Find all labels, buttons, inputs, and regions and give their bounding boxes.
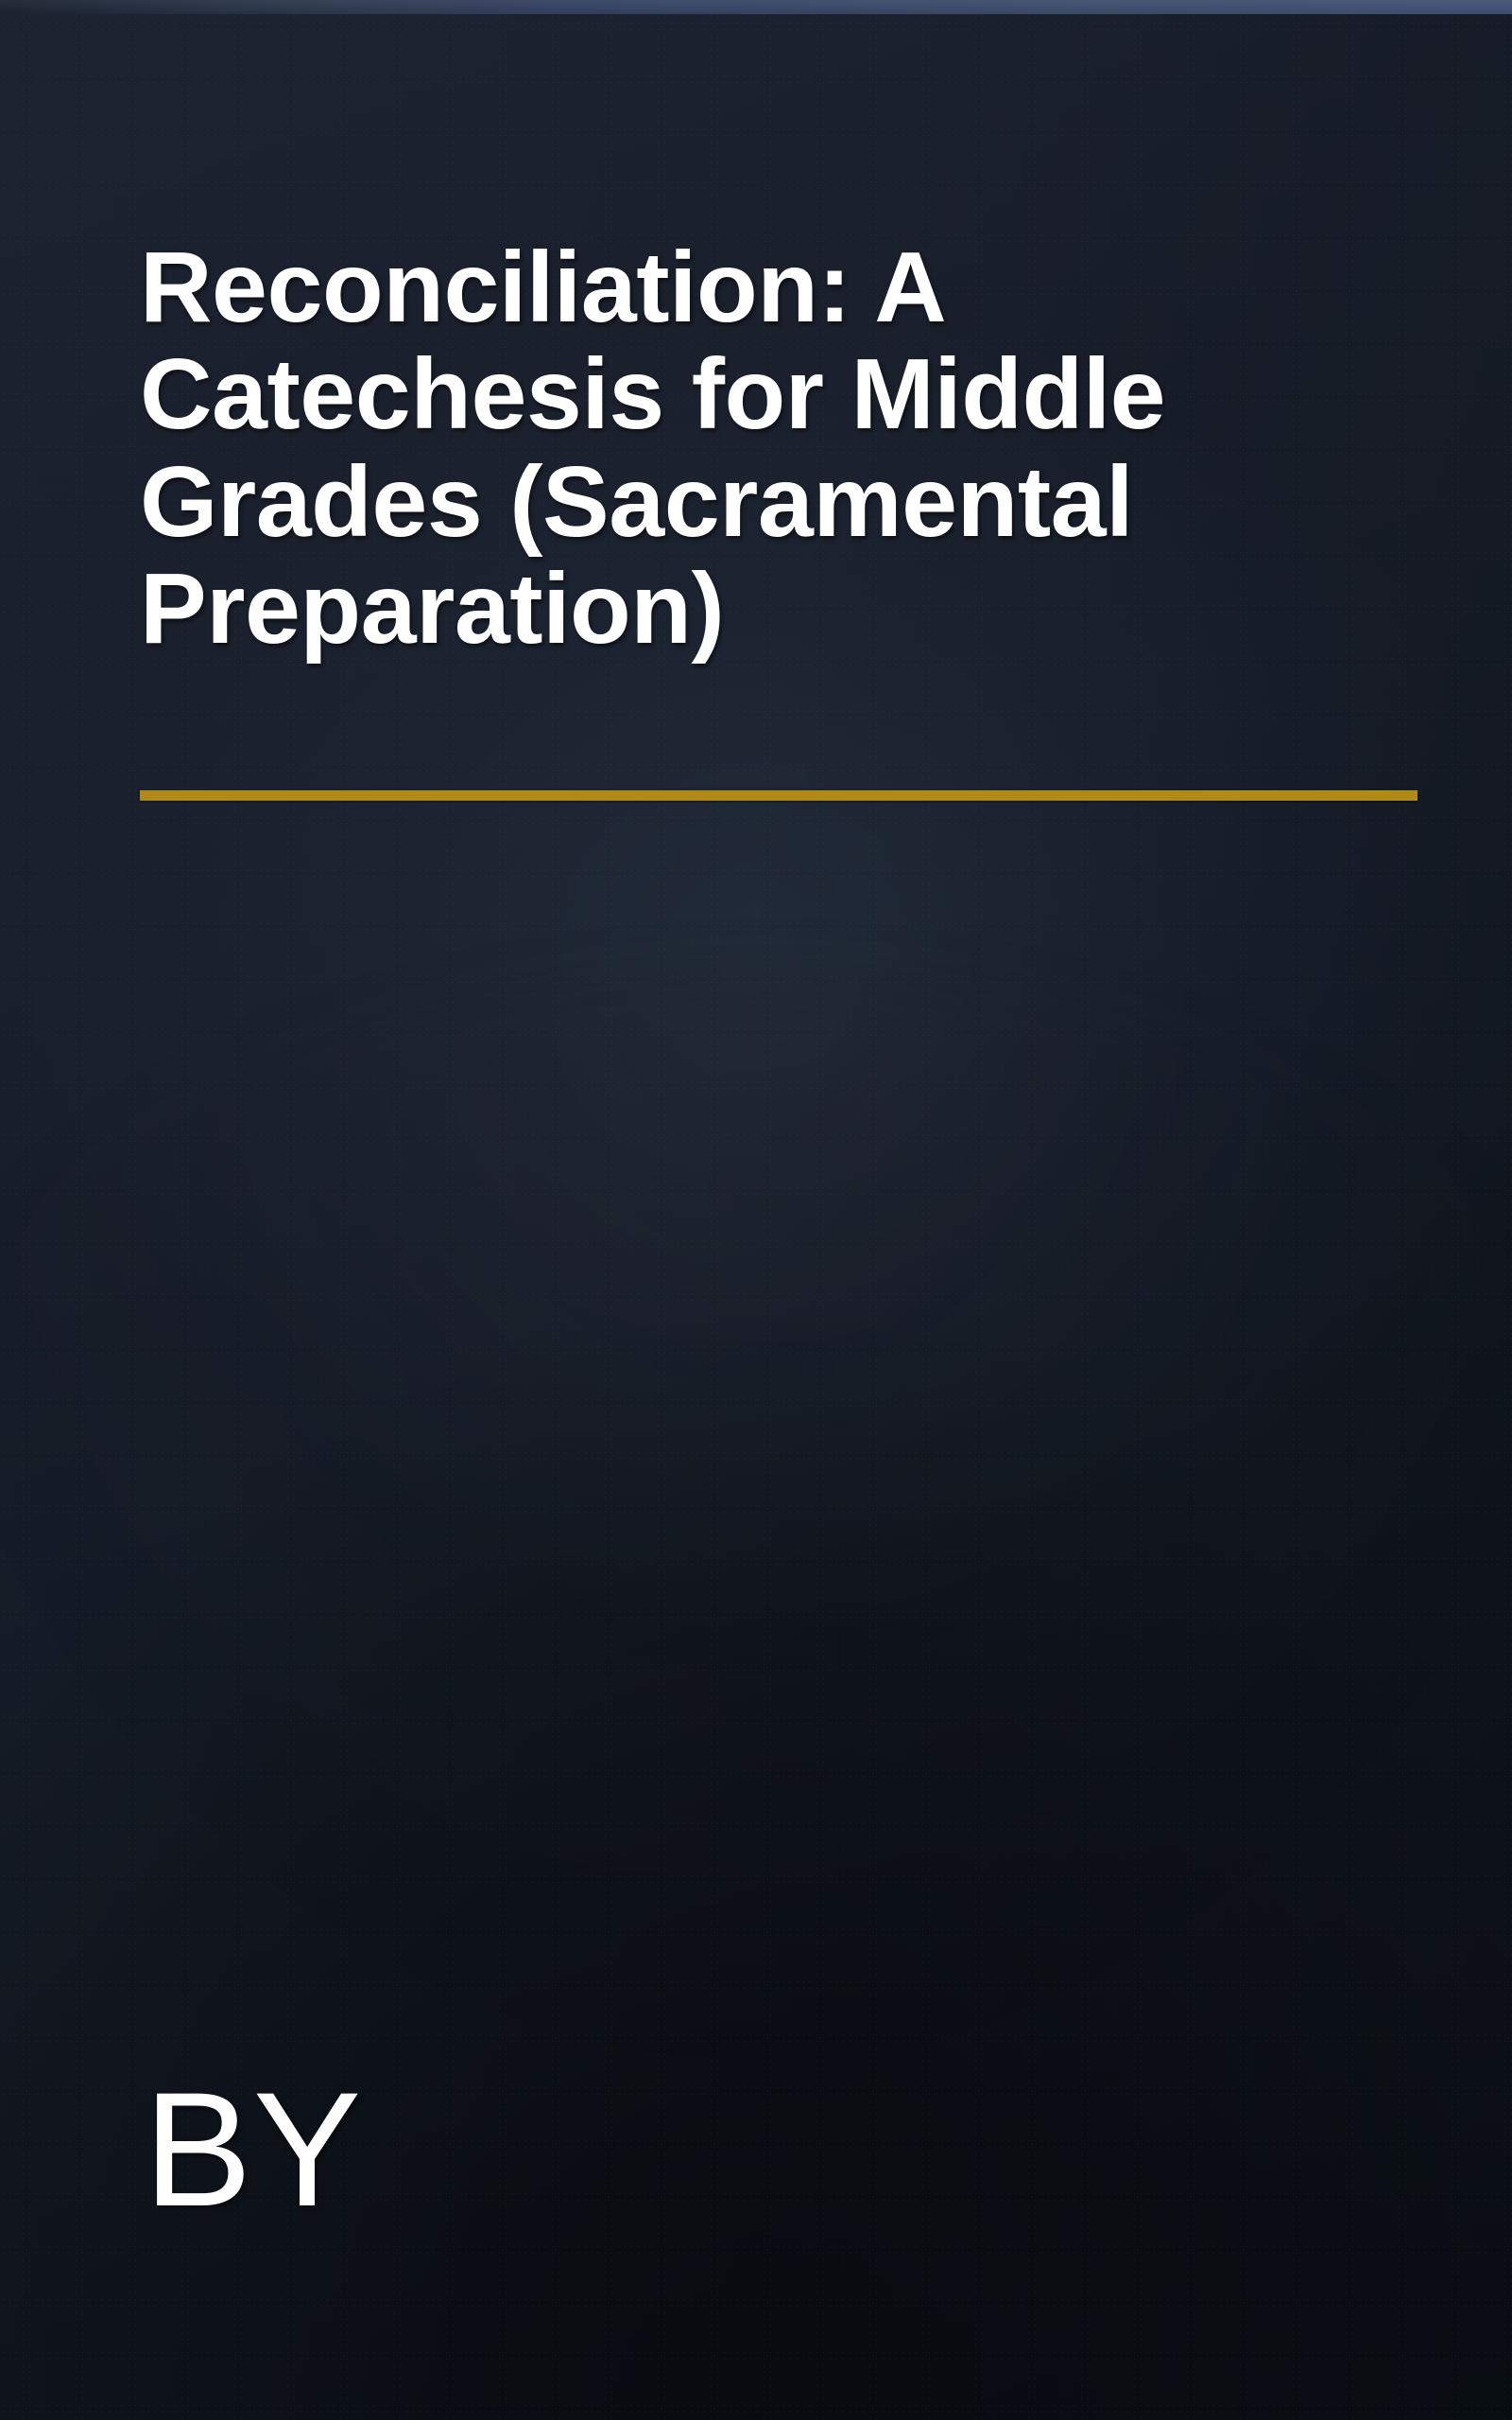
title-divider-rule [140,790,1417,801]
cover-title: Reconciliation: A Catechesis for Middle … [140,234,1417,664]
cover-content: Reconciliation: A Catechesis for Middle … [0,0,1512,2420]
byline-label: BY [144,2068,362,2231]
book-cover-page: Reconciliation: A Catechesis for Middle … [0,0,1512,2420]
title-block: Reconciliation: A Catechesis for Middle … [140,234,1417,664]
